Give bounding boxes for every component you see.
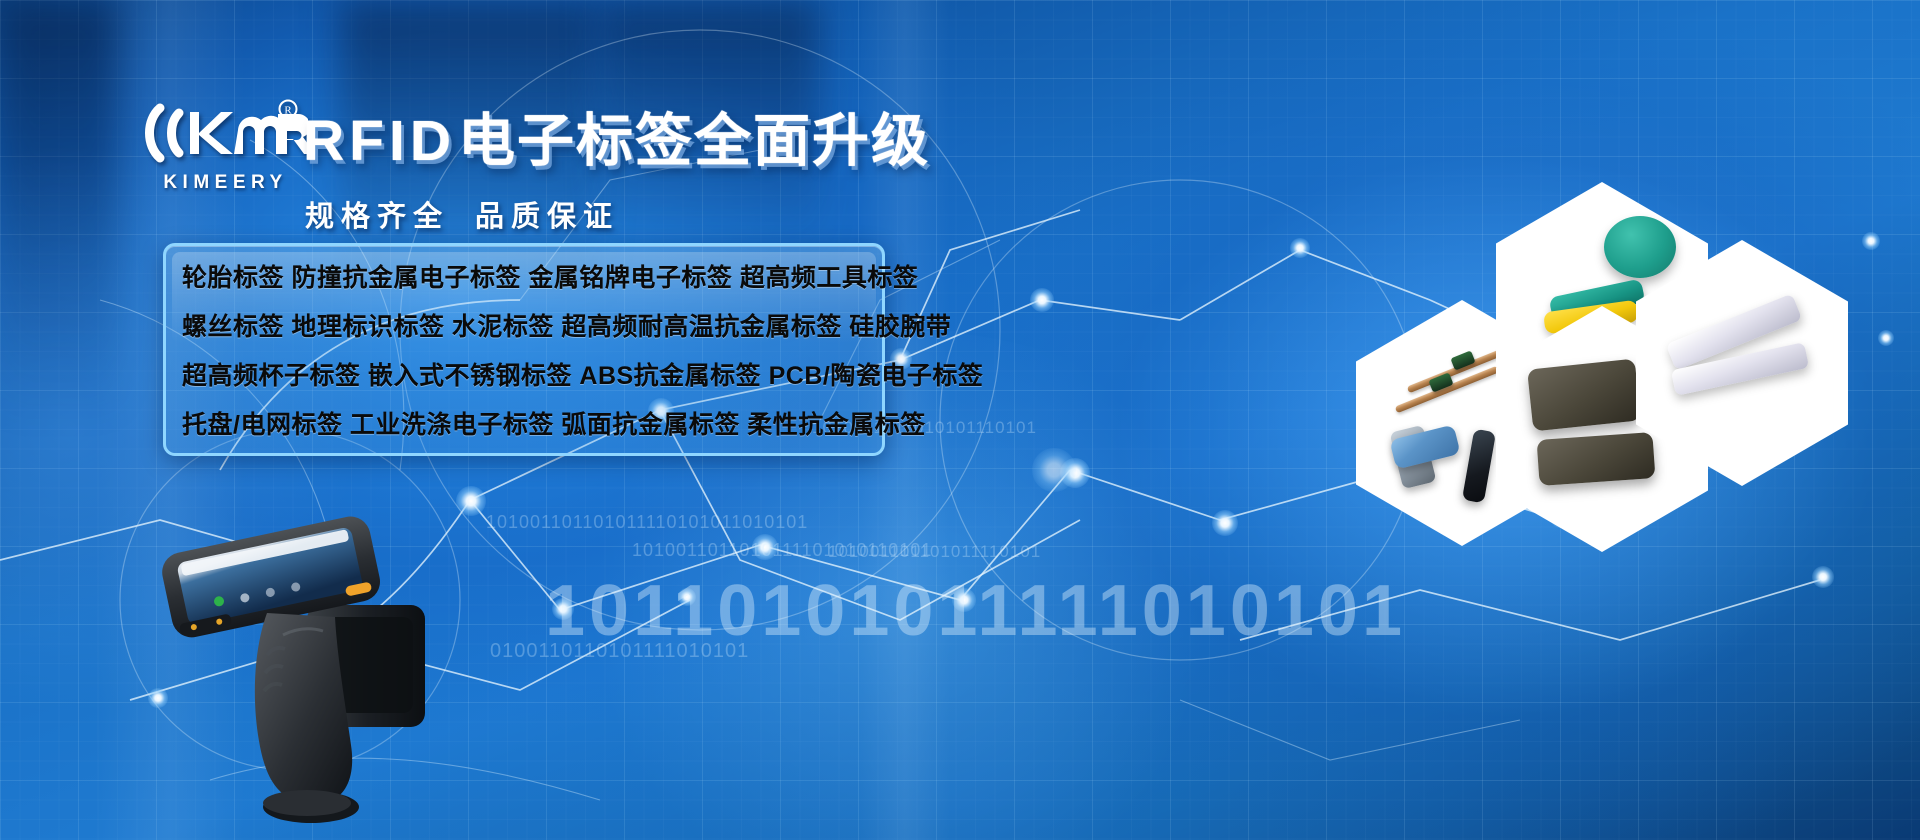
network-node — [1032, 448, 1076, 492]
handheld-rfid-reader[interactable] — [155, 495, 455, 835]
subtitle-left: 规格齐全 — [305, 201, 449, 233]
dark-anti-metal-tag — [1527, 359, 1641, 432]
kimeery-logo[interactable]: R KIMEERY — [138, 98, 308, 194]
network-node — [1030, 288, 1054, 312]
product-row: 轮胎标签 防撞抗金属电子标签 金属铭牌电子标签 超高频工具标签 — [182, 254, 868, 303]
black-stick-tag — [1462, 429, 1496, 504]
page-title: RFID电子标签全面升级 — [303, 112, 930, 172]
product-row: 超高频杯子标签 嵌入式不锈钢标签 ABS抗金属标签 PCB/陶瓷电子标签 — [182, 352, 868, 401]
headline-cn: 电子标签全面升级 — [458, 109, 930, 173]
product-list-panel: 轮胎标签 防撞抗金属电子标签 金属铭牌电子标签 超高频工具标签 螺丝标签 地理标… — [163, 243, 885, 456]
kimeery-wordmark: KIMEERY — [138, 172, 308, 194]
teal-disc-tag — [1604, 216, 1676, 278]
network-node — [456, 486, 486, 516]
page-subtitle: 规格齐全品质保证 — [305, 193, 619, 235]
product-row: 托盘/电网标签 工业洗涤电子标签 弧面抗金属标签 柔性抗金属标签 — [182, 401, 868, 450]
kimeery-signal-logo-icon: R — [138, 98, 308, 168]
binary-text-left-b: 1010011011010111101010110101 — [632, 540, 932, 561]
headline-prefix: RFID — [303, 109, 456, 173]
binary-text-left-a: 101001101101011110101011010101 — [486, 512, 808, 533]
dark-anti-metal-tag — [1537, 432, 1656, 486]
svg-text:R: R — [284, 105, 292, 117]
subtitle-right: 品质保证 — [475, 201, 619, 233]
registered-trademark-icon: R — [280, 101, 297, 118]
hexagon-product-gallery — [1160, 0, 1920, 600]
rfid-promo-banner: 1010011011010101110101 10100110110101111… — [0, 0, 1920, 840]
product-row: 螺丝标签 地理标识标签 水泥标签 超高频耐高温抗金属标签 硅胶腕带 — [182, 303, 868, 352]
